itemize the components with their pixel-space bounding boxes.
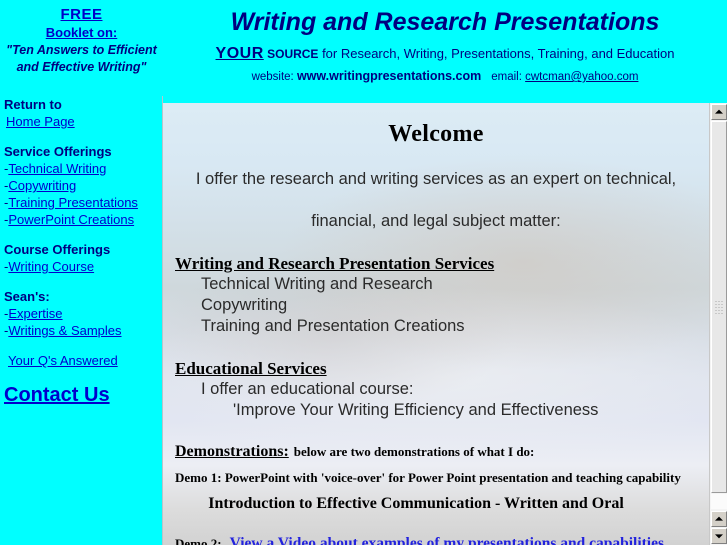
demonstrations-line: Demonstrations:below are two demonstrati… <box>175 443 699 461</box>
service-item-training-presentation: Training and Presentation Creations <box>201 316 699 337</box>
demo-2-label: Demo 2: <box>175 536 222 545</box>
scrollbar-grip-icon <box>715 300 724 314</box>
sidebar-item-home-page-label[interactable]: Home Page <box>6 114 75 129</box>
scrollbar-track-lower[interactable] <box>711 494 727 509</box>
demo-2-video-link[interactable]: View a Video about examples of my presen… <box>230 535 664 545</box>
sidebar-item-copywriting-label[interactable]: Copywriting <box>8 178 76 193</box>
tagline-your-word: YOUR <box>216 45 264 62</box>
sidebar-spacer-5 <box>2 369 157 382</box>
content-vertical-scrollbar[interactable] <box>709 103 727 545</box>
sidebar-item-technical-writing-label[interactable]: Technical Writing <box>8 161 106 176</box>
sidebar-heading-course-offerings: Course Offerings <box>2 241 157 258</box>
free-booklet-title-line1: "Ten Answers to Efficient <box>0 42 163 59</box>
scroll-up-arrow-icon-secondary[interactable] <box>711 511 727 527</box>
sidebar-spacer-1 <box>2 130 157 143</box>
sidebar-heading-service-offerings: Service Offerings <box>2 143 157 160</box>
demo-1-title: Introduction to Effective Communication … <box>173 495 699 513</box>
contact-line: website: www.writingpresentations.comema… <box>163 69 727 83</box>
sidebar-item-writings-samples-label[interactable]: Writings & Samples <box>8 323 121 338</box>
sidebar-item-questions-answered[interactable]: Your Q's Answered <box>2 352 157 369</box>
website-url: www.writingpresentations.com <box>297 69 481 83</box>
demonstrations-note: below are two demonstrations of what I d… <box>294 444 535 459</box>
free-booklet-promo: FREE Booklet on: "Ten Answers to Efficie… <box>0 6 163 76</box>
intro-paragraph-line1: I offer the research and writing service… <box>181 169 691 190</box>
sidebar-item-powerpoint-creations[interactable]: -PowerPoint Creations <box>2 211 157 228</box>
free-booklet-on-label[interactable]: Booklet on: <box>0 24 163 42</box>
sidebar-item-technical-writing[interactable]: -Technical Writing <box>2 160 157 177</box>
demonstrations-label: Demonstrations: <box>175 443 289 460</box>
section-heading-services: Writing and Research Presentation Servic… <box>175 254 699 274</box>
sidebar-item-training-presentations-label[interactable]: Training Presentations <box>8 195 138 210</box>
demo-2-row: Demo 2:View a Video about examples of my… <box>175 535 699 545</box>
intro-paragraph-line2: financial, and legal subject matter: <box>181 211 691 232</box>
sidebar-item-expertise[interactable]: -Expertise <box>2 305 157 322</box>
triangle-down-icon <box>715 534 723 538</box>
tagline-rest: for Research, Writing, Presentations, Tr… <box>318 46 674 61</box>
welcome-heading: Welcome <box>173 121 699 148</box>
sidebar-item-contact-us[interactable]: Contact Us <box>2 382 110 408</box>
scrollbar-thumb[interactable] <box>711 121 727 493</box>
free-booklet-free-label[interactable]: FREE <box>0 6 163 24</box>
sidebar-heading-return-to: Return to <box>2 96 157 113</box>
website-label: website: <box>252 71 297 83</box>
sidebar-navigation: Return to Home Page Service Offerings -T… <box>0 96 157 545</box>
sidebar-spacer-2 <box>2 228 157 241</box>
sidebar-spacer-4 <box>2 339 157 352</box>
sidebar-item-writing-course[interactable]: -Writing Course <box>2 258 157 275</box>
education-item-course-name: 'Improve Your Writing Efficiency and Eff… <box>233 400 699 421</box>
education-item-course-intro: I offer an educational course: <box>201 379 699 400</box>
section-heading-educational-services: Educational Services <box>175 359 699 379</box>
tagline-source-word: SOURCE <box>264 47 319 61</box>
free-booklet-title-line2: and Effective Writing" <box>0 59 163 76</box>
triangle-up-icon <box>715 517 723 521</box>
sidebar-heading-seans: Sean's: <box>2 288 157 305</box>
sidebar-item-expertise-label[interactable]: Expertise <box>8 306 62 321</box>
email-address-link[interactable]: cwtcman@yahoo.com <box>525 71 638 83</box>
sidebar-item-copywriting[interactable]: -Copywriting <box>2 177 157 194</box>
sidebar-item-powerpoint-creations-label[interactable]: PowerPoint Creations <box>8 212 134 227</box>
service-item-copywriting: Copywriting <box>201 295 699 316</box>
main-content-scroll-area: Welcome I offer the research and writing… <box>163 103 709 545</box>
sidebar-item-training-presentations[interactable]: -Training Presentations <box>2 194 157 211</box>
sidebar-spacer-3 <box>2 275 157 288</box>
demo-1-description: Demo 1: PowerPoint with 'voice-over' for… <box>175 470 699 486</box>
sidebar-item-home-page[interactable]: Home Page <box>2 113 157 130</box>
triangle-up-icon <box>715 110 723 114</box>
scroll-up-arrow-icon[interactable] <box>711 104 727 120</box>
site-title: Writing and Research Presentations <box>163 8 727 37</box>
service-item-technical-writing: Technical Writing and Research <box>201 274 699 295</box>
sidebar-item-writing-course-label[interactable]: Writing Course <box>8 259 94 274</box>
email-label: email: <box>491 71 525 83</box>
main-content-frame: Welcome I offer the research and writing… <box>163 103 727 545</box>
sidebar-item-writings-samples[interactable]: -Writings & Samples <box>2 322 157 339</box>
page-header: FREE Booklet on: "Ten Answers to Efficie… <box>0 0 727 96</box>
scroll-down-arrow-icon[interactable] <box>711 528 727 544</box>
masthead: Writing and Research Presentations YOUR … <box>163 0 727 83</box>
sidebar-item-questions-answered-label[interactable]: Your Q's Answered <box>8 353 118 368</box>
site-tagline: YOUR SOURCE for Research, Writing, Prese… <box>163 45 727 63</box>
